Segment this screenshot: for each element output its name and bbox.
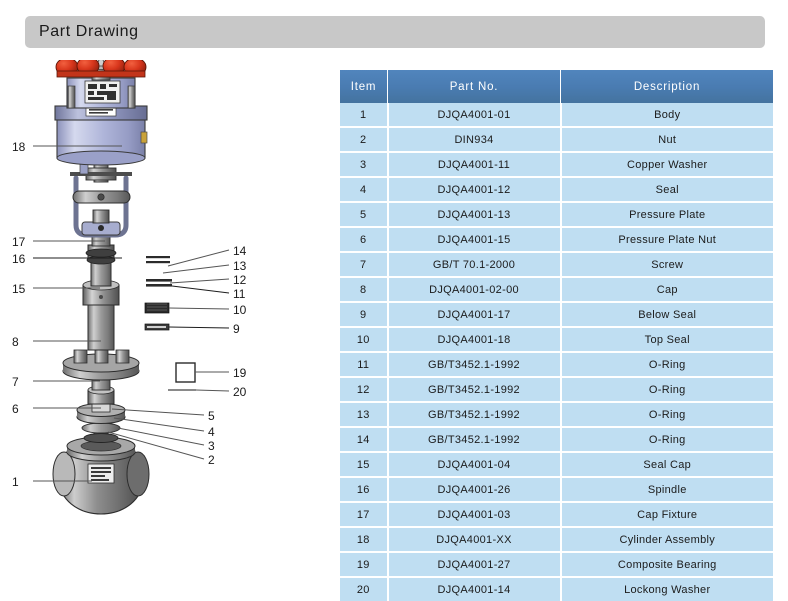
pressure-plate-nut-part <box>88 380 114 404</box>
cell-part-no: DJQA4001-15 <box>388 227 561 252</box>
callout-15: 15 <box>12 282 26 296</box>
callout-18: 18 <box>12 140 26 154</box>
page-title: Part Drawing <box>39 23 139 41</box>
cell-part-no: DJQA4001-02-00 <box>388 277 561 302</box>
detached-small-parts <box>145 256 196 391</box>
cell-description: O-Ring <box>561 352 774 377</box>
callout-leader-lines <box>33 146 229 481</box>
cell-item: 13 <box>340 402 388 427</box>
cell-item: 18 <box>340 527 388 552</box>
cell-description: O-Ring <box>561 427 774 452</box>
cell-description: O-Ring <box>561 402 774 427</box>
cell-item: 14 <box>340 427 388 452</box>
callout-5: 5 <box>208 409 215 423</box>
cell-item: 3 <box>340 152 388 177</box>
cell-part-no: DJQA4001-27 <box>388 552 561 577</box>
cell-description: O-Ring <box>561 377 774 402</box>
cell-part-no: GB/T3452.1-1992 <box>388 402 561 427</box>
table-row: 3DJQA4001-11Copper Washer <box>340 152 773 177</box>
table-row: 7GB/T 70.1-2000Screw <box>340 252 773 277</box>
cell-part-no: GB/T3452.1-1992 <box>388 427 561 452</box>
callout-6: 6 <box>12 402 19 416</box>
table-row: 14GB/T3452.1-1992O-Ring <box>340 427 773 452</box>
valve-assembly-illustration: 18 17 16 15 8 7 6 1 14 13 12 11 10 9 19 … <box>0 60 330 530</box>
cell-description: Copper Washer <box>561 152 774 177</box>
cell-item: 4 <box>340 177 388 202</box>
cell-part-no: DJQA4001-18 <box>388 327 561 352</box>
cell-part-no: GB/T3452.1-1992 <box>388 352 561 377</box>
cell-part-no: DJQA4001-13 <box>388 202 561 227</box>
parts-table-body: 1DJQA4001-01Body2DIN934Nut3DJQA4001-11Co… <box>340 103 773 601</box>
cell-item: 1 <box>340 103 388 127</box>
cell-item: 2 <box>340 127 388 152</box>
callout-13: 13 <box>233 259 247 273</box>
cell-description: Cap Fixture <box>561 502 774 527</box>
table-row: 5DJQA4001-13Pressure Plate <box>340 202 773 227</box>
callout-16: 16 <box>12 252 26 266</box>
cell-part-no: DJQA4001-XX <box>388 527 561 552</box>
cell-part-no: DJQA4001-01 <box>388 103 561 127</box>
part-drawing-page: Part Drawing <box>0 0 788 530</box>
callout-12: 12 <box>233 273 247 287</box>
cell-part-no: DJQA4001-26 <box>388 477 561 502</box>
table-row: 6DJQA4001-15Pressure Plate Nut <box>340 227 773 252</box>
callout-2: 2 <box>208 453 215 467</box>
cylinder-assembly-part <box>55 60 147 165</box>
callout-1: 1 <box>12 475 19 489</box>
cell-description: Pressure Plate <box>561 202 774 227</box>
cell-part-no: DJQA4001-03 <box>388 502 561 527</box>
table-row: 10DJQA4001-18Top Seal <box>340 327 773 352</box>
cell-part-no: DJQA4001-11 <box>388 152 561 177</box>
table-row: 13GB/T3452.1-1992O-Ring <box>340 402 773 427</box>
table-row: 12GB/T3452.1-1992O-Ring <box>340 377 773 402</box>
cell-item: 6 <box>340 227 388 252</box>
cell-part-no: DIN934 <box>388 127 561 152</box>
cell-part-no: DJQA4001-14 <box>388 577 561 601</box>
cell-description: Seal Cap <box>561 452 774 477</box>
cell-description: Pressure Plate Nut <box>561 227 774 252</box>
table-row: 8DJQA4001-02-00Cap <box>340 277 773 302</box>
cell-item: 10 <box>340 327 388 352</box>
cell-description: Cap <box>561 277 774 302</box>
table-row: 9DJQA4001-17Below Seal <box>340 302 773 327</box>
cell-description: Top Seal <box>561 327 774 352</box>
cell-item: 7 <box>340 252 388 277</box>
cell-description: Cylinder Assembly <box>561 527 774 552</box>
valve-body-part <box>53 437 149 514</box>
cell-description: Lockong Washer <box>561 577 774 601</box>
parts-table-head: Item Part No. Description <box>340 70 773 103</box>
column-header-description: Description <box>561 70 774 103</box>
callout-17: 17 <box>12 235 26 249</box>
parts-list-table: Item Part No. Description 1DJQA4001-01Bo… <box>340 70 773 601</box>
page-header-bar: Part Drawing <box>25 16 765 48</box>
cell-part-no: GB/T 70.1-2000 <box>388 252 561 277</box>
table-row: 1DJQA4001-01Body <box>340 103 773 127</box>
cell-description: Body <box>561 103 774 127</box>
table-row: 15DJQA4001-04Seal Cap <box>340 452 773 477</box>
callout-14: 14 <box>233 244 247 258</box>
cell-part-no: DJQA4001-17 <box>388 302 561 327</box>
cell-item: 9 <box>340 302 388 327</box>
column-header-item: Item <box>340 70 388 103</box>
callout-3: 3 <box>208 439 215 453</box>
table-row: 11GB/T3452.1-1992O-Ring <box>340 352 773 377</box>
cell-item: 19 <box>340 552 388 577</box>
exploded-valve-drawing: 18 17 16 15 8 7 6 1 14 13 12 11 10 9 19 … <box>0 60 330 530</box>
cell-item: 12 <box>340 377 388 402</box>
callout-11: 11 <box>233 287 246 301</box>
callout-20: 20 <box>233 385 247 399</box>
table-row: 20DJQA4001-14Lockong Washer <box>340 577 773 601</box>
cap-fixture-part <box>73 191 130 203</box>
cell-item: 20 <box>340 577 388 601</box>
cell-part-no: DJQA4001-12 <box>388 177 561 202</box>
callout-7: 7 <box>12 375 19 389</box>
cell-part-no: GB/T3452.1-1992 <box>388 377 561 402</box>
callout-numbers: 18 17 16 15 8 7 6 1 14 13 12 11 10 9 19 … <box>12 140 247 489</box>
cap-stem-part <box>83 260 119 350</box>
table-row: 18DJQA4001-XXCylinder Assembly <box>340 527 773 552</box>
callout-19: 19 <box>233 366 247 380</box>
screw-flange-part <box>63 348 139 380</box>
callout-8: 8 <box>12 335 19 349</box>
cell-item: 16 <box>340 477 388 502</box>
table-row: 19DJQA4001-27Composite Bearing <box>340 552 773 577</box>
callout-4: 4 <box>208 425 215 439</box>
cell-description: Composite Bearing <box>561 552 774 577</box>
cell-description: Nut <box>561 127 774 152</box>
seal-cap-part <box>86 235 116 264</box>
callout-9: 9 <box>233 322 240 336</box>
cell-item: 11 <box>340 352 388 377</box>
cell-item: 15 <box>340 452 388 477</box>
cell-description: Below Seal <box>561 302 774 327</box>
callout-10: 10 <box>233 303 247 317</box>
table-row: 17DJQA4001-03Cap Fixture <box>340 502 773 527</box>
cell-item: 17 <box>340 502 388 527</box>
table-row: 4DJQA4001-12Seal <box>340 177 773 202</box>
cell-description: Spindle <box>561 477 774 502</box>
cell-part-no: DJQA4001-04 <box>388 452 561 477</box>
spindle-yoke-part <box>76 178 126 235</box>
table-row: 2DIN934Nut <box>340 127 773 152</box>
cell-item: 5 <box>340 202 388 227</box>
parts-table-header-row: Item Part No. Description <box>340 70 773 103</box>
cell-description: Screw <box>561 252 774 277</box>
column-header-part-no: Part No. <box>388 70 561 103</box>
table-row: 16DJQA4001-26Spindle <box>340 477 773 502</box>
cell-description: Seal <box>561 177 774 202</box>
cell-item: 8 <box>340 277 388 302</box>
